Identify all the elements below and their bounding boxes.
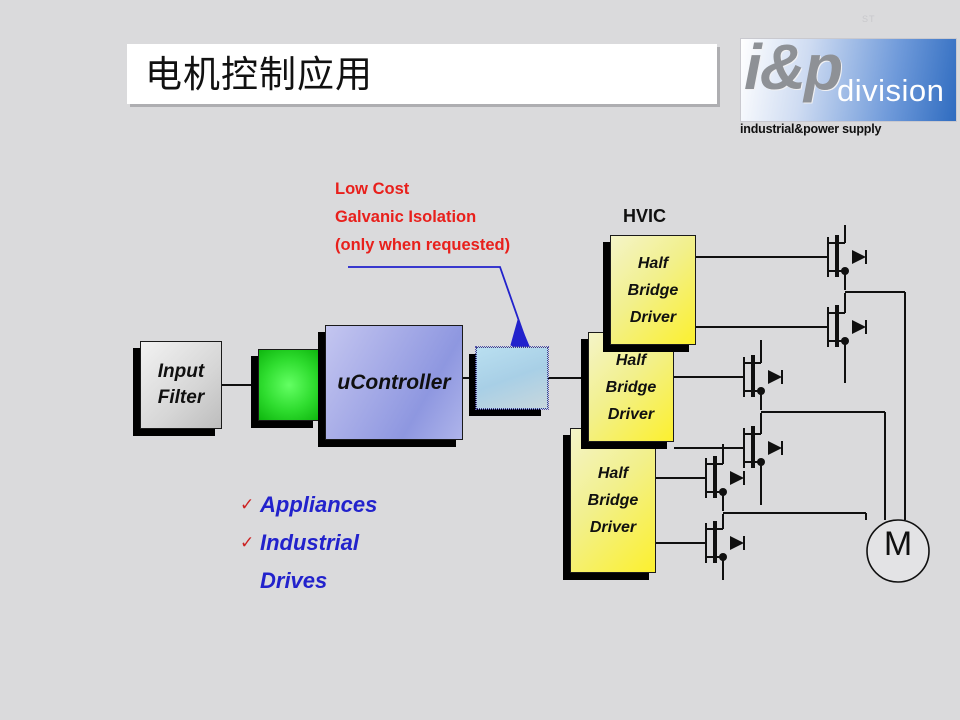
logo-faint-mark: ST: [862, 14, 876, 24]
list-item: Drives: [240, 563, 500, 599]
hbd-line-3: Driver: [590, 514, 636, 541]
hbd-line-3: Driver: [630, 304, 676, 331]
callout-line-3: (only when requested): [335, 231, 595, 259]
ucontroller-label: uController: [326, 326, 462, 439]
half-bridge-driver-3-label: Half Bridge Driver: [571, 429, 655, 572]
logo-tagline: industrial&power supply: [740, 122, 958, 136]
hbd-line-1: Half: [598, 460, 628, 487]
hbd-line-1: Half: [638, 250, 668, 277]
hvic-label: HVIC: [623, 206, 666, 227]
input-filter-line-1: Input: [158, 359, 204, 385]
block-half-bridge-driver-1[interactable]: Half Bridge Driver: [610, 235, 696, 345]
hbd-line-2: Bridge: [628, 277, 679, 304]
list-item: ✓ Industrial: [240, 525, 500, 561]
callout-text: Low Cost Galvanic Isolation (only when r…: [335, 175, 595, 259]
block-ucontroller[interactable]: uController: [325, 325, 463, 440]
block-half-bridge-driver-3[interactable]: Half Bridge Driver: [570, 428, 656, 573]
logo-division-text: division: [837, 73, 944, 109]
slide-canvas: 电机控制应用 i&p division industrial&power sup…: [0, 0, 960, 720]
input-filter-label: Input Filter: [141, 342, 221, 428]
motor-label: M: [880, 526, 916, 562]
bullet-label: Industrial: [260, 525, 359, 561]
callout-line-2: Galvanic Isolation: [335, 203, 595, 231]
logo-panel: i&p division: [740, 38, 957, 122]
callout-line-1: Low Cost: [335, 175, 595, 203]
input-filter-line-2: Filter: [158, 385, 204, 411]
logo-mark: i&p: [744, 31, 841, 103]
hbd-line-2: Bridge: [606, 374, 657, 401]
power-leg-3: [706, 444, 866, 580]
half-bridge-driver-1-label: Half Bridge Driver: [611, 236, 695, 344]
mosfet-bodies-leg1: [835, 235, 866, 347]
block-rectifier[interactable]: [258, 349, 320, 421]
check-icon: ✓: [240, 525, 260, 561]
bullet-list: ✓ Appliances ✓ Industrial Drives: [240, 487, 500, 601]
check-icon: ✓: [240, 487, 260, 523]
page-title: 电机控制应用: [145, 49, 705, 101]
bullet-label: Appliances: [260, 487, 377, 523]
power-leg-2: [744, 340, 885, 520]
hbd-line-3: Driver: [608, 401, 654, 428]
bullet-label: Drives: [260, 563, 327, 599]
block-optocoupler[interactable]: [476, 347, 548, 409]
hbd-line-2: Bridge: [588, 487, 639, 514]
block-input-filter[interactable]: Input Filter: [140, 341, 222, 429]
list-item: ✓ Appliances: [240, 487, 500, 523]
power-leg-1: [828, 225, 905, 520]
